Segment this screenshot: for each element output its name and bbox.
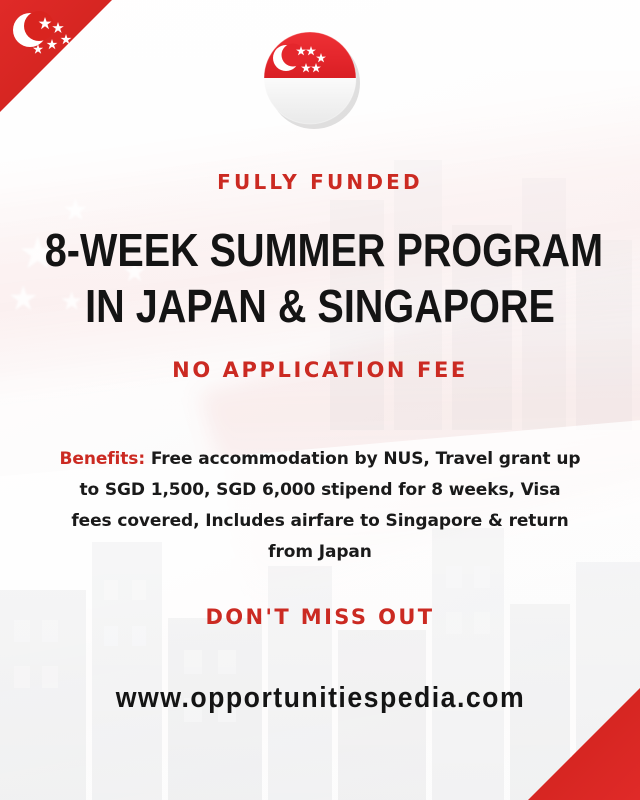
benefits-paragraph: Benefits: Free accommodation by NUS, Tra…	[58, 444, 582, 568]
page-title: 8-WEEK SUMMER PROGRAM IN JAPAN & SINGAPO…	[0, 222, 640, 334]
benefits-label: Benefits:	[60, 449, 146, 469]
headline-line-2: IN JAPAN & SINGAPORE	[45, 278, 595, 334]
poster-canvas: ★ ★ ★ ★ ★	[0, 0, 640, 800]
website-url[interactable]: www.opportunitiespedia.com	[0, 682, 640, 715]
cta-dont-miss-out: DON'T MISS OUT	[0, 605, 640, 629]
eyebrow-fully-funded: FULLY FUNDED	[0, 170, 640, 194]
headline-line-1: 8-WEEK SUMMER PROGRAM	[45, 222, 595, 278]
benefits-text: Free accommodation by NUS, Travel grant …	[71, 449, 580, 562]
website-url-text: www.opportunitiespedia.com	[115, 682, 524, 715]
subline-no-application-fee: NO APPLICATION FEE	[0, 358, 640, 382]
poster-content: FULLY FUNDED 8-WEEK SUMMER PROGRAM IN JA…	[0, 0, 640, 800]
